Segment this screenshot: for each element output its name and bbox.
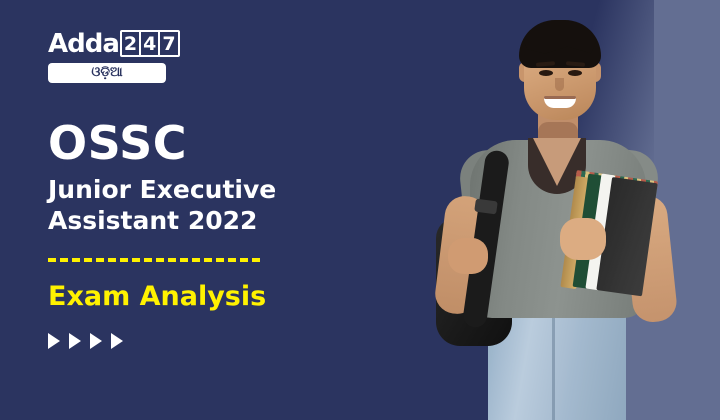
logo-language-badge: ଓଡ଼ିଆ: [48, 63, 166, 83]
page-subtitle: Junior Executive Assistant 2022: [48, 174, 378, 236]
logo-digit-7: 7: [160, 32, 177, 55]
student-left-eye: [539, 70, 553, 76]
play-arrow-icon: [69, 333, 81, 349]
student-jeans-seam: [552, 310, 555, 420]
student-left-hand: [448, 238, 488, 274]
page-title: OSSC: [48, 118, 378, 168]
play-arrow-icon: [111, 333, 123, 349]
student-right-hand: [560, 218, 606, 260]
promo-banner: Adda 2 4 7 ଓଡ଼ିଆ OSSC Junior Executive A…: [0, 0, 720, 420]
brand-logo[interactable]: Adda 2 4 7 ଓଡ଼ିଆ: [48, 30, 166, 83]
headline-block: OSSC Junior Executive Assistant 2022 Exa…: [48, 118, 378, 349]
student-nose: [555, 78, 564, 91]
student-photo: [392, 0, 720, 420]
logo-language-label: ଓଡ଼ିଆ: [91, 63, 122, 83]
logo-wordmark: Adda: [48, 30, 119, 58]
logo-digit-2: 2: [122, 32, 141, 55]
logo-wordmark-row: Adda 2 4 7: [48, 30, 166, 58]
play-arrow-icon: [90, 333, 102, 349]
logo-247-badge: 2 4 7: [120, 30, 180, 57]
student-upper-lip: [544, 96, 576, 99]
arrow-group: [48, 333, 378, 349]
logo-digit-4: 4: [141, 32, 160, 55]
play-arrow-icon: [48, 333, 60, 349]
student-right-eye: [568, 70, 582, 76]
highlight-text: Exam Analysis: [48, 281, 378, 313]
dashed-divider: [48, 258, 260, 262]
